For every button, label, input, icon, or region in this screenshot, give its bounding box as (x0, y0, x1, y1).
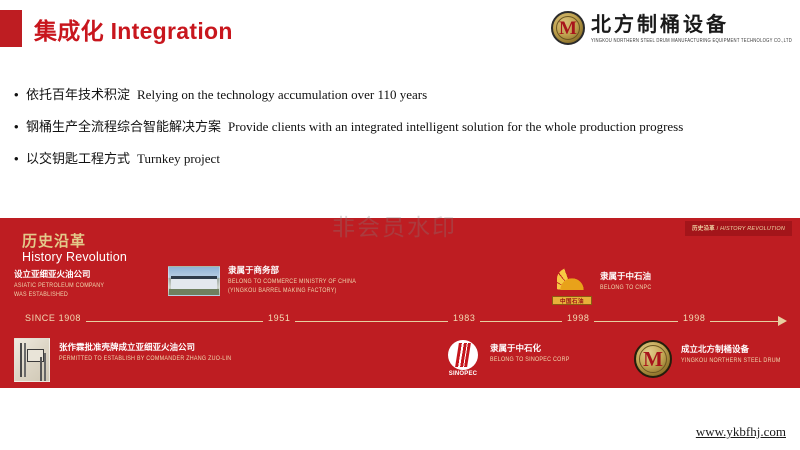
entry-title-cn: 隶属于中石化 (490, 344, 570, 355)
timeline-entry-zhang-zuolin: 张作霖批准壳牌成立亚细亚火油公司 PERMITTED TO ESTABLISH … (14, 338, 231, 382)
timeline-year-label: 1951 (263, 313, 295, 323)
bullet-list: • 依托百年技术积淀 Relying on the technology acc… (14, 84, 794, 180)
history-title-en: History Revolution (22, 250, 127, 264)
timeline-year-label: 1983 (448, 313, 480, 323)
timeline-entry-text: 设立亚细亚火油公司 ASIATIC PETROLEUM COMPANY WAS … (14, 270, 104, 298)
timeline-entry-text: 隶属于中石化 BELONG TO SINOPEC CORP (490, 344, 570, 364)
entry-title-cn: 张作霖批准壳牌成立亚细亚火油公司 (59, 343, 231, 354)
timeline-axis: SINCE 1908 1951 1983 1998 1998 (0, 313, 800, 331)
list-item: • 以交钥匙工程方式 Turnkey project (14, 148, 794, 167)
entry-desc-en-line1: BELONG TO SINOPEC CORP (490, 355, 570, 365)
brand-seal-letter: M (559, 19, 577, 38)
timeline-entry-text: 隶属于中石油 BELONG TO CNPC (600, 272, 652, 292)
timeline-entry-sinopec: SINOPEC 隶属于中石化 BELONG TO SINOPEC CORP (444, 340, 570, 378)
sinopec-circle-shape-icon (448, 340, 478, 370)
history-panel: 历史沿革 History Revolution 历史沿革 / HISTORY R… (0, 218, 800, 388)
brand-text: 北方制桶设备 YINGKOU NORTHERN STEEL DRUM MANUF… (591, 15, 792, 42)
entry-title-cn: 成立北方制桶设备 (681, 345, 781, 356)
entry-desc-en-line1: BELONG TO CNPC (600, 283, 652, 293)
brand-name-en: YINGKOU NORTHERN STEEL DRUM MANUFACTURIN… (591, 37, 792, 43)
history-title-cn: 历史沿革 (22, 230, 86, 251)
sinopec-logo-label: SINOPEC (444, 371, 482, 377)
sinopec-mark-icon (455, 343, 471, 367)
entry-title-cn: 隶属于中石油 (600, 272, 652, 283)
timeline-entry-1998-cnpc: 中国石油 隶属于中石油 BELONG TO CNPC (552, 266, 652, 306)
history-corner-tag: 历史沿革 / HISTORY REVOLUTION (685, 221, 792, 236)
page-title: 集成化 Integration (34, 12, 233, 46)
list-item: • 钢桶生产全流程综合智能解决方案 Provide clients with a… (14, 116, 794, 135)
entry-title-cn: 设立亚细亚火油公司 (14, 270, 104, 281)
timeline-entry-1998-nsd: M 成立北方制桶设备 YINGKOU NORTHERN STEEL DRUM (634, 340, 781, 378)
bullet-text-cn: 钢桶生产全流程综合智能解决方案 (26, 116, 221, 135)
bullet-text-cn: 以交钥匙工程方式 (26, 148, 130, 167)
timeline-arrow-icon (778, 316, 787, 326)
timeline-entry-text: 张作霖批准壳牌成立亚细亚火油公司 PERMITTED TO ESTABLISH … (59, 343, 231, 363)
header-accent-bar (0, 10, 22, 47)
footer-website-url: www.ykbfhj.com (696, 424, 786, 440)
brand-name-cn: 北方制桶设备 (591, 15, 792, 36)
history-corner-tag-cn: 历史沿革 (692, 226, 715, 232)
bullet-text-en: Provide clients with an integrated intel… (228, 119, 683, 135)
sinopec-logo-icon: SINOPEC (444, 340, 482, 378)
bullet-marker-icon: • (14, 152, 26, 165)
timeline-entry-text: 隶属于商务部 BELONG TO COMMERCE MINISTRY OF CH… (228, 266, 356, 294)
timeline-entry-text: 成立北方制桶设备 YINGKOU NORTHERN STEEL DRUM (681, 345, 781, 365)
entry-desc-en-line2: WAS ESTABLISHED (14, 290, 104, 300)
timeline-year-label: 1998 (678, 313, 710, 323)
historic-document-photo-icon (14, 338, 50, 382)
bullet-marker-icon: • (14, 88, 26, 101)
bullet-text-en: Turnkey project (137, 151, 220, 167)
timeline-year-label: 1998 (562, 313, 594, 323)
cnpc-logo-icon: 中国石油 (552, 266, 592, 306)
bullet-marker-icon: • (14, 120, 26, 133)
cnpc-sun-shape-icon (557, 267, 587, 290)
timeline-entry-1908: 设立亚细亚火油公司 ASIATIC PETROLEUM COMPANY WAS … (14, 270, 104, 298)
history-corner-tag-en: HISTORY REVOLUTION (720, 226, 785, 232)
factory-building-photo-icon (168, 266, 220, 296)
company-logo: M 北方制桶设备 YINGKOU NORTHERN STEEL DRUM MAN… (551, 6, 792, 50)
entry-desc-en-line1: YINGKOU NORTHERN STEEL DRUM (681, 356, 781, 366)
entry-desc-en-line1: PERMITTED TO ESTABLISH BY COMMANDER ZHAN… (59, 354, 231, 364)
nsd-seal-logo-icon: M (634, 340, 672, 378)
bullet-text-cn: 依托百年技术积淀 (26, 84, 130, 103)
entry-desc-en-line2: (YINGKOU BARREL MAKING FACTORY) (228, 286, 356, 296)
brand-seal-icon: M (551, 11, 585, 45)
nsd-seal-letter: M (643, 349, 663, 370)
entry-title-cn: 隶属于商务部 (228, 266, 356, 277)
timeline-year-label: SINCE 1908 (20, 313, 86, 323)
bullet-text-en: Relying on the technology accumulation o… (137, 87, 427, 103)
timeline-axis-line (20, 321, 784, 322)
cnpc-logo-label: 中国石油 (552, 296, 592, 305)
timeline-entry-1951: 隶属于商务部 BELONG TO COMMERCE MINISTRY OF CH… (168, 266, 356, 296)
list-item: • 依托百年技术积淀 Relying on the technology acc… (14, 84, 794, 103)
